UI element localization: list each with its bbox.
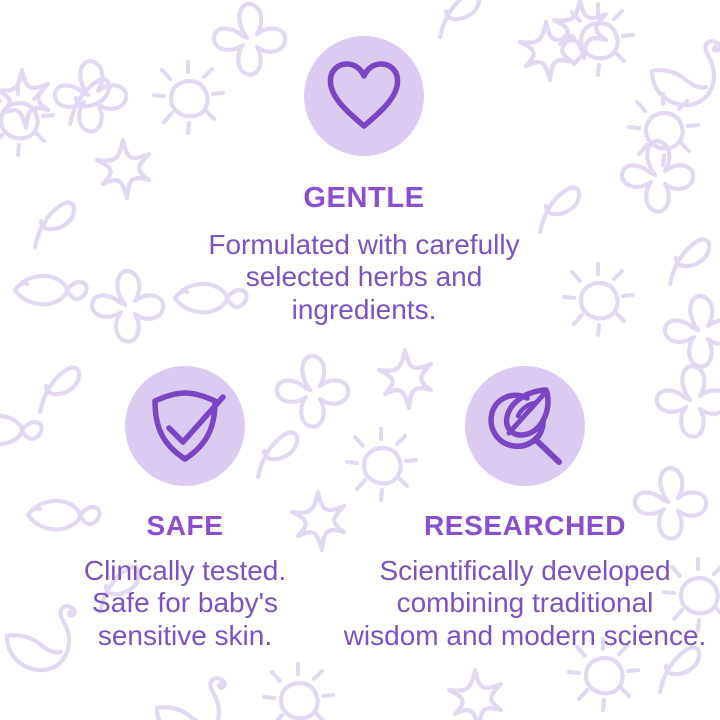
butterfly-doodle <box>665 296 720 367</box>
leaf-doodle <box>660 648 699 692</box>
star-doodle <box>449 670 501 720</box>
gentle-description-line: Formulated with carefully <box>150 229 578 261</box>
butterfly-doodle <box>622 141 693 212</box>
star-doodle <box>0 70 48 128</box>
researched-description-line: Scientifically developed <box>330 555 720 587</box>
researched-description-line: wisdom and modern science. <box>330 620 720 652</box>
leaf-doodle <box>35 203 74 247</box>
feature-researched: RESEARCHED Scientifically developed comb… <box>330 366 720 652</box>
gentle-description-line: ingredients. <box>150 294 578 326</box>
butterfly-doodle <box>55 61 126 132</box>
shield-check-icon <box>144 387 226 465</box>
star-doodle <box>97 140 149 198</box>
leaf-doodle <box>70 80 109 124</box>
leaf-doodle <box>670 240 709 284</box>
sun-doodle <box>264 664 333 720</box>
gentle-description-line: selected herbs and <box>150 261 578 293</box>
leaf-magnifier-icon <box>483 385 567 467</box>
safe-description-line: sensitive skin. <box>35 620 335 652</box>
gentle-icon-badge <box>304 36 424 156</box>
safe-icon-badge <box>125 366 245 486</box>
safe-description-line: Clinically tested. <box>35 555 335 587</box>
gentle-description: Formulated with carefully selected herbs… <box>150 229 578 326</box>
sun-doodle <box>629 94 698 165</box>
fish-doodle <box>15 276 87 304</box>
duck-doodle <box>157 678 225 720</box>
feature-gentle: GENTLE Formulated with carefully selecte… <box>150 36 578 326</box>
duck-doodle <box>652 41 720 105</box>
researched-icon-badge <box>465 366 585 486</box>
leaf-doodle <box>440 0 479 37</box>
researched-description-line: combining traditional <box>330 587 720 619</box>
researched-description: Scientifically developed combining tradi… <box>330 555 720 652</box>
promo-graphic: GENTLE Formulated with carefully selecte… <box>0 0 720 720</box>
feature-safe: SAFE Clinically tested. Safe for baby's … <box>35 366 335 652</box>
researched-title: RESEARCHED <box>330 512 720 540</box>
heart-icon <box>325 60 403 132</box>
safe-description: Clinically tested. Safe for baby's sensi… <box>35 555 335 652</box>
gentle-title: GENTLE <box>150 184 578 213</box>
safe-description-line: Safe for baby's <box>35 587 335 619</box>
safe-title: SAFE <box>35 512 335 540</box>
sun-doodle <box>0 84 53 155</box>
